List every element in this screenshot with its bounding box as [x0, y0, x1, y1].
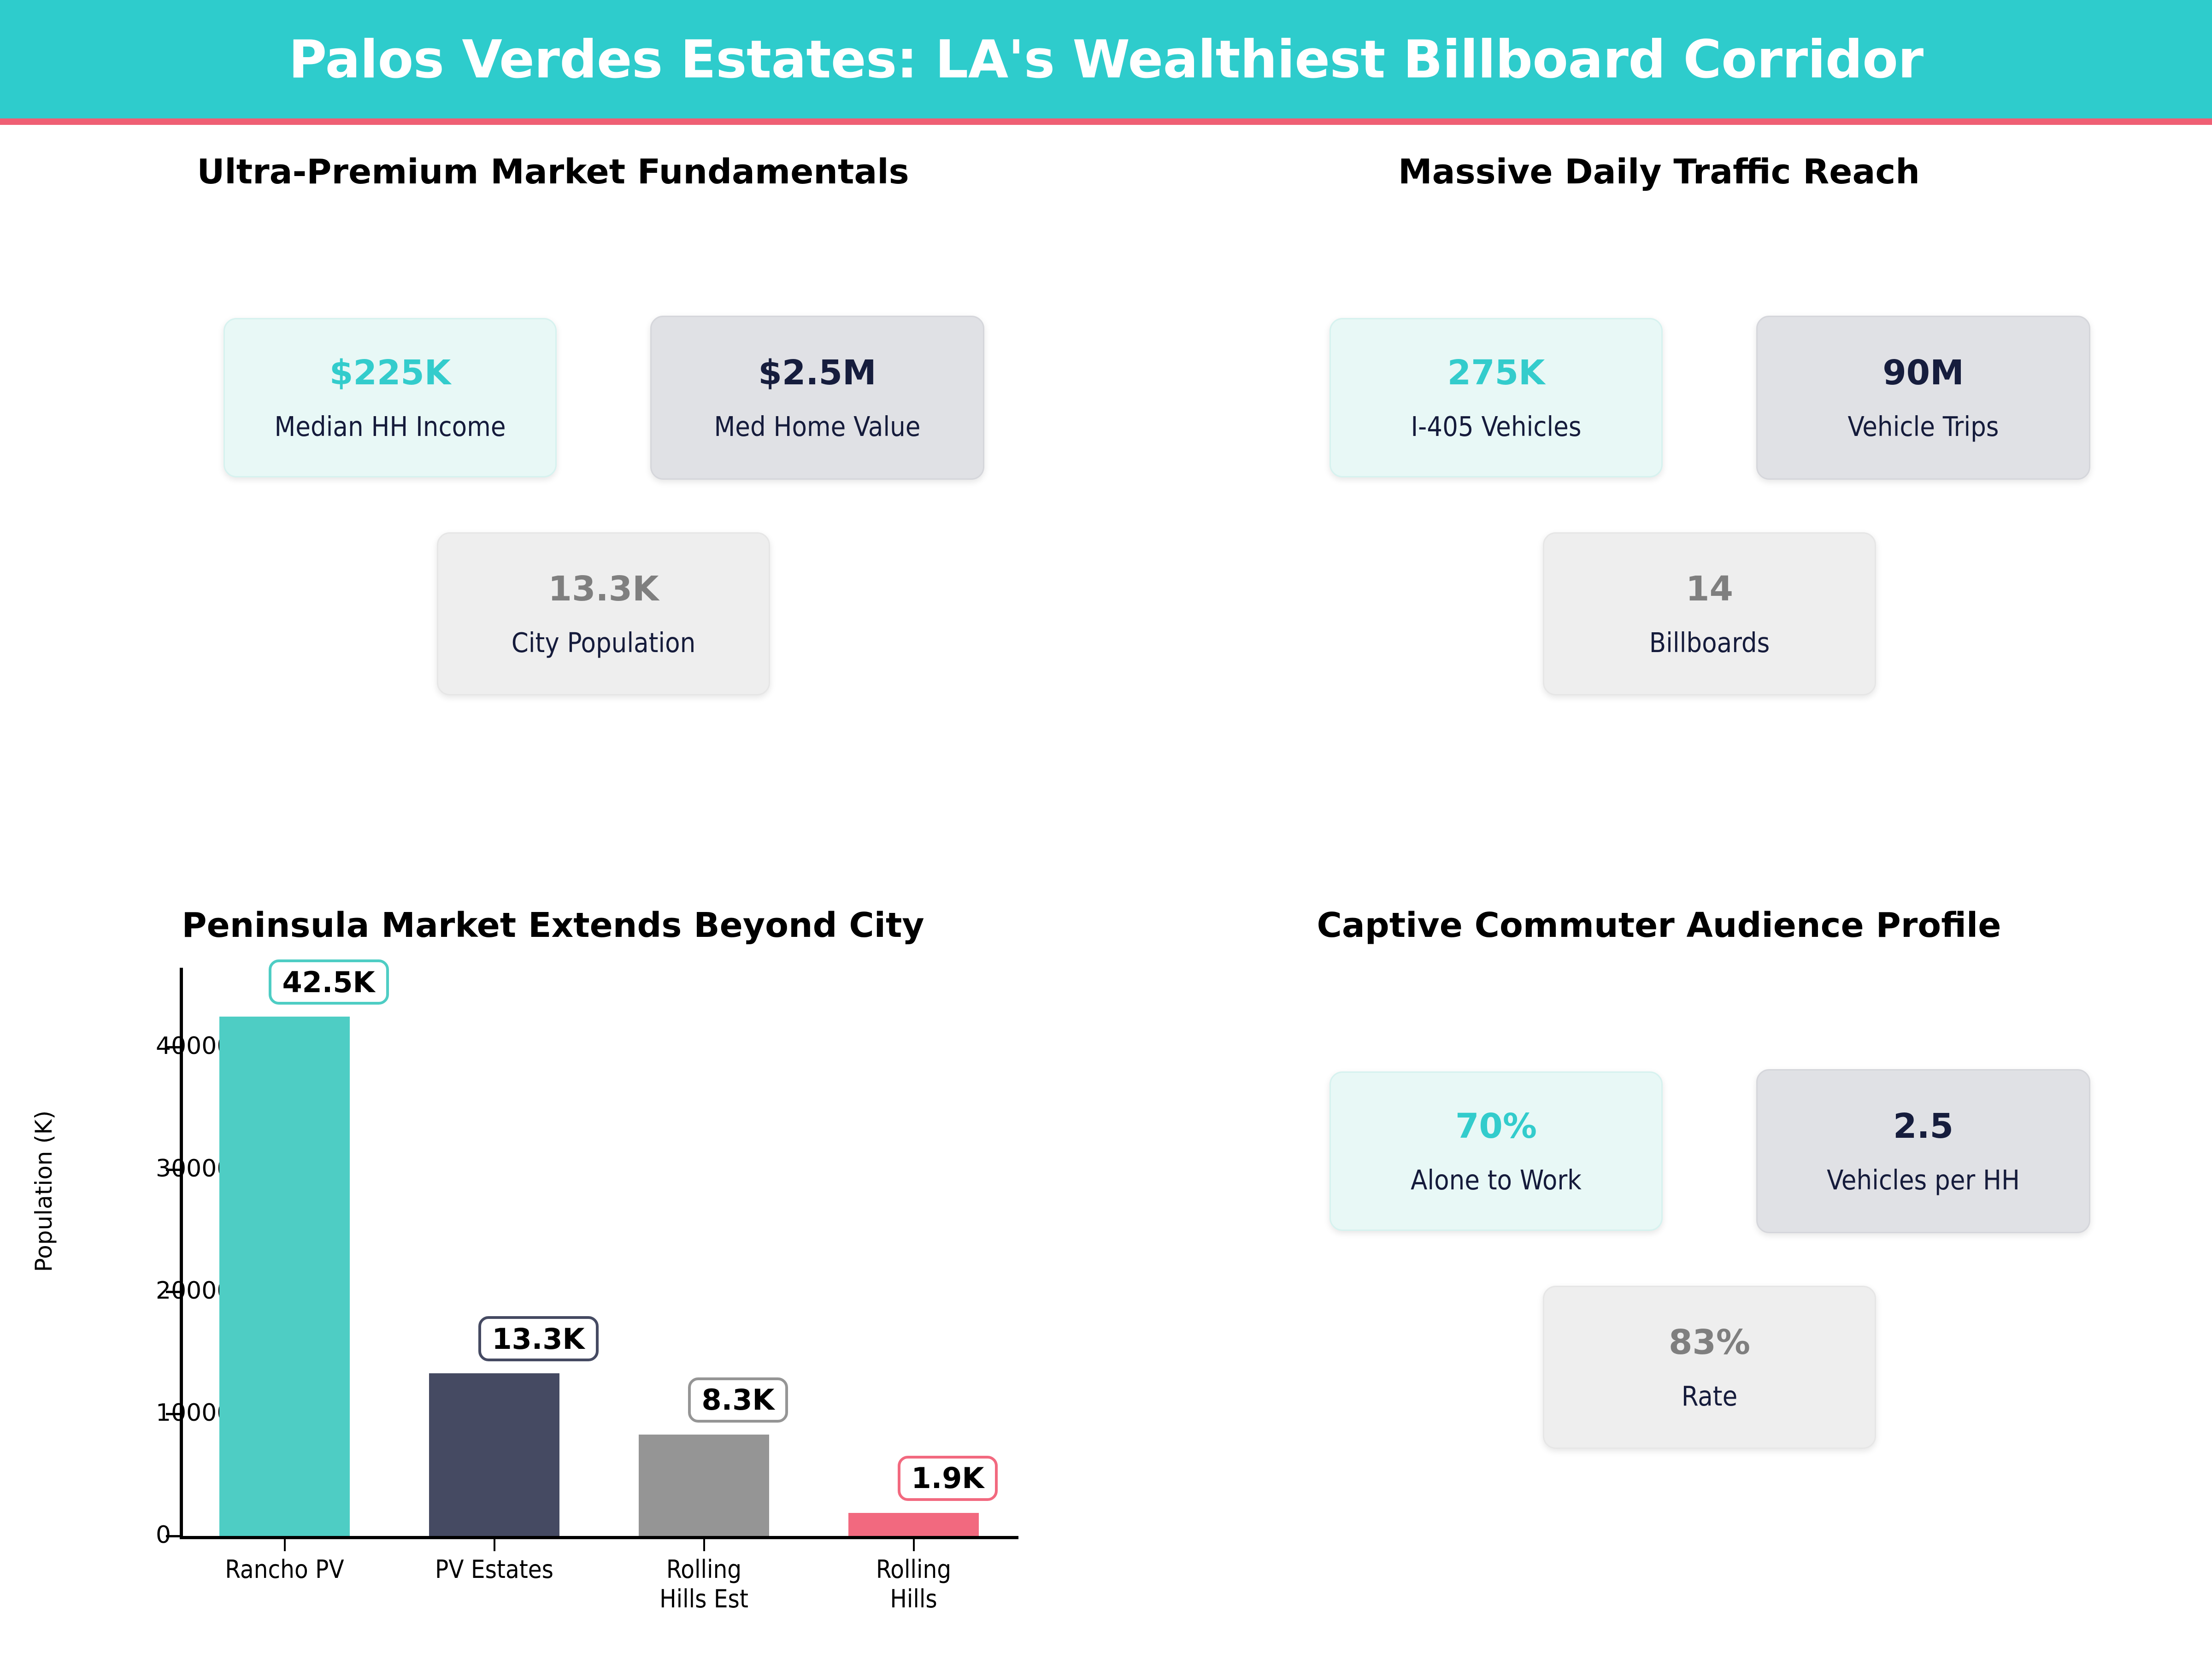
- page-title: Palos Verdes Estates: LA's Wealthiest Bi…: [288, 29, 1923, 90]
- kpi-value: 83%: [1669, 1325, 1750, 1359]
- kpi-label: Rate: [1682, 1382, 1738, 1410]
- bar[interactable]: [429, 1373, 559, 1536]
- kpi-value: 13.3K: [548, 572, 659, 606]
- panel-peninsula-chart: Peninsula Market Extends Beyond City Pop…: [0, 906, 1106, 1643]
- x-tick-label: Rancho PV: [180, 1555, 389, 1584]
- panel-traffic-reach: Massive Daily Traffic Reach 275K I-405 V…: [1106, 152, 2212, 728]
- bar-chart: Population (K) 010000200003000040000 42.…: [0, 906, 1106, 1643]
- x-axis-spine: [180, 1536, 1018, 1539]
- panel-commuter-profile: Captive Commuter Audience Profile 70% Al…: [1106, 906, 2212, 1643]
- header-bar: Palos Verdes Estates: LA's Wealthiest Bi…: [0, 0, 2212, 125]
- kpi-card-billboards[interactable]: 14 Billboards: [1543, 532, 1876, 695]
- chart-plot-area: 010000200003000040000 42.5K13.3K8.3K1.9K…: [180, 968, 1018, 1539]
- bar-value-annotation: 42.5K: [269, 959, 389, 1005]
- x-tick-label: RollingHills: [809, 1555, 1018, 1613]
- panel-market-fundamentals: Ultra-Premium Market Fundamentals $225K …: [0, 152, 1106, 728]
- kpi-card-median-hh-income[interactable]: $225K Median HH Income: [224, 318, 557, 477]
- kpi-label: Alone to Work: [1411, 1166, 1582, 1194]
- x-tick: [284, 1539, 286, 1551]
- kpi-label: City Population: [512, 629, 696, 656]
- kpi-label: Billboards: [1649, 629, 1770, 656]
- bar[interactable]: [219, 1017, 349, 1536]
- kpi-label: Vehicles per HH: [1827, 1166, 2020, 1194]
- kpi-card-alone-to-work[interactable]: 70% Alone to Work: [1330, 1071, 1663, 1231]
- kpi-value: 70%: [1455, 1109, 1537, 1143]
- kpi-card-vehicles-per-hh[interactable]: 2.5 Vehicles per HH: [1756, 1069, 2090, 1233]
- kpi-value: 275K: [1447, 356, 1545, 390]
- kpi-card-i405-vehicles[interactable]: 275K I-405 Vehicles: [1330, 318, 1663, 477]
- kpi-label: Median HH Income: [275, 413, 506, 440]
- kpi-value: 2.5: [1893, 1109, 1953, 1143]
- x-tick: [494, 1539, 495, 1551]
- kpi-value: 14: [1686, 572, 1733, 606]
- kpi-card-city-population[interactable]: 13.3K City Population: [437, 532, 770, 695]
- bar-value-annotation: 8.3K: [688, 1377, 788, 1423]
- x-tick: [913, 1539, 915, 1551]
- x-tick: [703, 1539, 705, 1551]
- panel-title-traffic: Massive Daily Traffic Reach: [1106, 152, 2212, 192]
- kpi-card-med-home-value[interactable]: $2.5M Med Home Value: [650, 316, 984, 480]
- kpi-value: $2.5M: [758, 356, 876, 390]
- kpi-value: 90M: [1883, 356, 1964, 390]
- kpi-value: $225K: [329, 356, 451, 390]
- panel-title-commuter: Captive Commuter Audience Profile: [1106, 906, 2212, 945]
- kpi-card-vehicle-trips[interactable]: 90M Vehicle Trips: [1756, 316, 2090, 480]
- bar-value-annotation: 1.9K: [898, 1456, 998, 1501]
- bar-value-annotation: 13.3K: [478, 1316, 599, 1361]
- kpi-card-rate[interactable]: 83% Rate: [1543, 1286, 1876, 1449]
- kpi-label: Med Home Value: [714, 413, 921, 440]
- x-tick-label: PV Estates: [389, 1555, 599, 1584]
- y-axis-label: Population (K): [30, 1111, 57, 1272]
- panel-title-market: Ultra-Premium Market Fundamentals: [0, 152, 1106, 192]
- x-tick-label: RollingHills Est: [599, 1555, 809, 1613]
- bar[interactable]: [848, 1513, 978, 1536]
- kpi-label: Vehicle Trips: [1848, 413, 1999, 440]
- bar[interactable]: [639, 1435, 769, 1536]
- kpi-label: I-405 Vehicles: [1411, 413, 1582, 440]
